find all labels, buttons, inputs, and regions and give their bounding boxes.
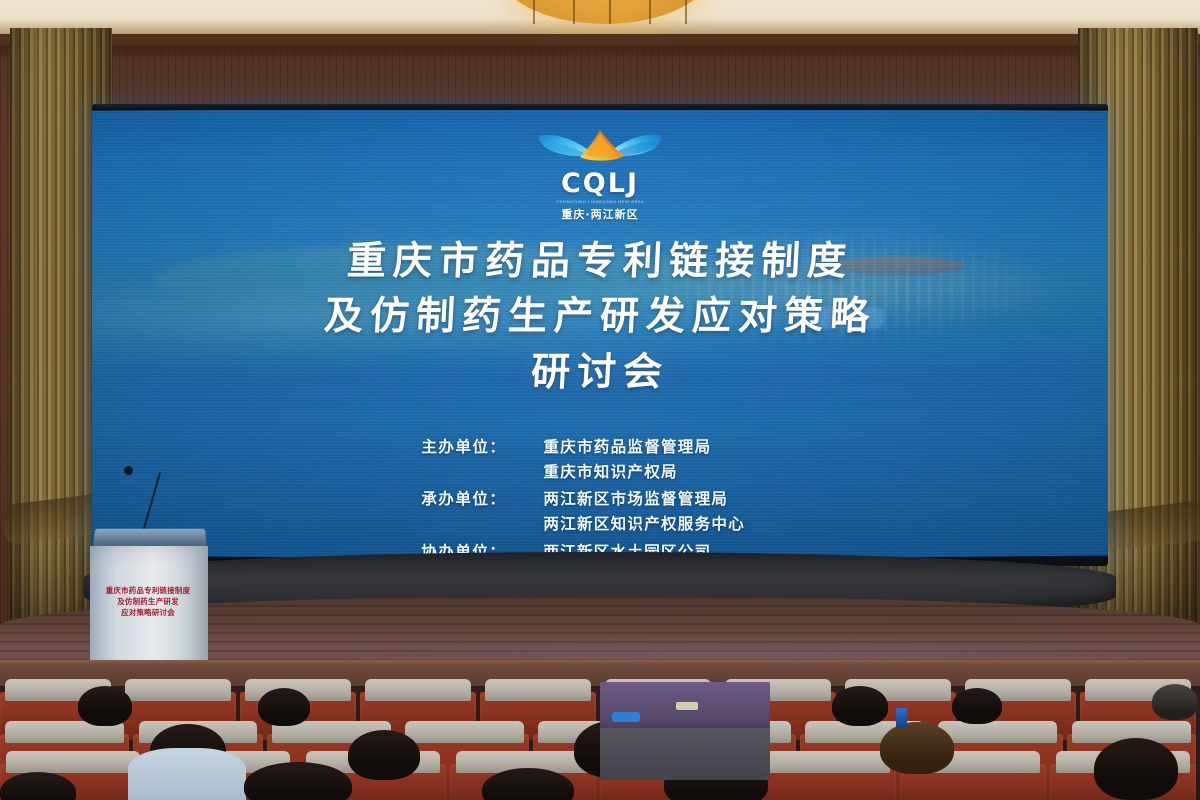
cqlj-logo: CQLJ CHONGQING LIANGJIANG NEW AREA 重庆·两江…: [536, 124, 664, 222]
title-line-3: 研讨会: [323, 345, 878, 400]
cqlj-english-subtitle: CHONGQING LIANGJIANG NEW AREA: [556, 199, 644, 204]
aisle-console-side: [600, 728, 770, 780]
microphone-icon: [124, 466, 133, 475]
attendee: [348, 730, 420, 780]
title-line-2: 及仿制药生产研发应对策略: [323, 289, 878, 344]
ceiling-shadow: [0, 34, 1200, 60]
smartphone-icon: [896, 708, 907, 728]
attendee: [880, 722, 954, 774]
organizer-value: 重庆市知识产权局: [543, 459, 711, 484]
conference-hall-photo: CQLJ CHONGQING LIANGJIANG NEW AREA 重庆·两江…: [0, 0, 1200, 800]
attendee: [1094, 738, 1178, 800]
attendee: [832, 686, 888, 726]
screen-top-bezel: [92, 104, 1108, 110]
organizer-row: 承办单位： 两江新区市场监督管理局 两江新区知识产权服务中心: [421, 486, 778, 536]
led-stage-screen: CQLJ CHONGQING LIANGJIANG NEW AREA 重庆·两江…: [92, 104, 1108, 566]
organizer-value: 两江新区知识产权服务中心: [543, 511, 745, 536]
title-line-1: 重庆市药品专利链接制度: [323, 234, 878, 289]
organizer-value: 两江新区市场监督管理局: [543, 486, 745, 511]
screen-surface: CQLJ CHONGQING LIANGJIANG NEW AREA 重庆·两江…: [92, 108, 1108, 560]
organizer-values: 两江新区市场监督管理局 两江新区知识产权服务中心: [543, 486, 745, 536]
podium-sign-line-3: 应对策略研讨会: [121, 608, 175, 618]
podium-sign-line-1: 重庆市药品专利链接制度: [106, 586, 191, 596]
organizer-value: 重庆市药品监督管理局: [543, 434, 711, 459]
podium-sign-line-2: 及仿制药生产研发: [117, 597, 179, 607]
attendee-shirt: [128, 748, 246, 800]
attendee: [952, 688, 1002, 724]
speaker-podium: 重庆市药品专利链接制度 及仿制药生产研发 应对策略研讨会: [88, 528, 210, 678]
organizer-list: 主办单位： 重庆市药品监督管理局 重庆市知识产权局 承办单位： 两江新区市场监督…: [421, 434, 778, 560]
cqlj-bird-logo-icon: [536, 124, 664, 172]
attendee: [258, 688, 310, 726]
organizer-label: 承办单位：: [421, 486, 543, 511]
organizer-label: 主办单位：: [421, 434, 543, 459]
cqlj-wordmark: CQLJ: [561, 170, 639, 197]
seat: [750, 764, 896, 800]
slide-title: 重庆市药品专利链接制度 及仿制药生产研发应对策略 研讨会: [324, 234, 876, 400]
slide-content: CQLJ CHONGQING LIANGJIANG NEW AREA 重庆·两江…: [92, 108, 1108, 560]
console-paper: [676, 702, 698, 710]
organizer-values: 重庆市药品监督管理局 重庆市知识产权局: [543, 434, 711, 484]
attendee: [1152, 684, 1198, 720]
organizer-row: 主办单位： 重庆市药品监督管理局 重庆市知识产权局: [421, 434, 778, 484]
console-device: [612, 712, 640, 722]
cqlj-chinese-subtitle: 重庆·两江新区: [561, 206, 638, 222]
attendee: [78, 686, 132, 726]
podium-sign: 重庆市药品专利链接制度 及仿制药生产研发 应对策略研讨会: [98, 576, 198, 628]
ceiling-lamp-icon: [497, 0, 713, 24]
